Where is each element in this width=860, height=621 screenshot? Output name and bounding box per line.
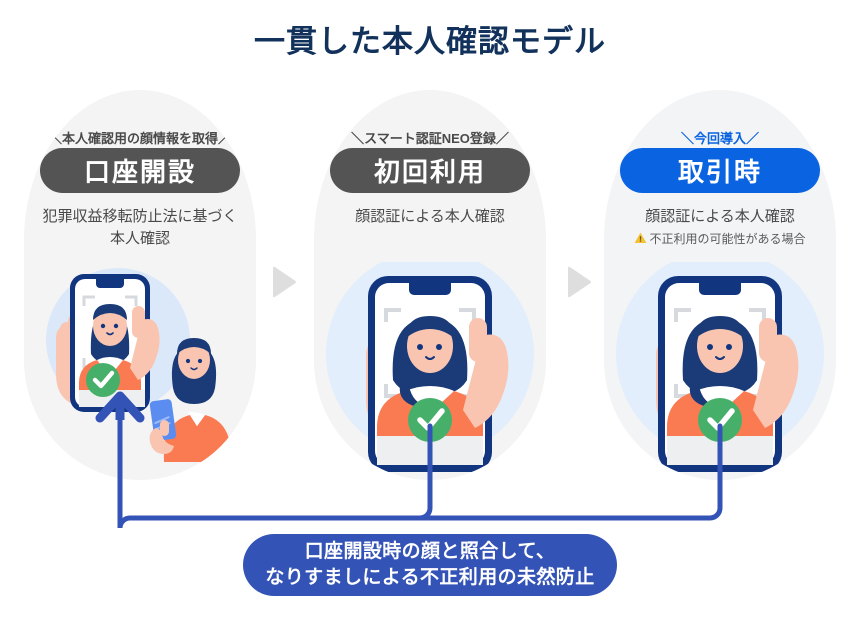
step-pill-label: 取引時 — [620, 148, 820, 193]
steps-container: ＼本人確認用の顔情報を取得／ 口座開設 犯罪収益移転防止法に基づく 本人確認 — [0, 90, 860, 482]
step-card-account-opening: ＼本人確認用の顔情報を取得／ 口座開設 犯罪収益移転防止法に基づく 本人確認 — [24, 90, 256, 480]
step-caption: ＼スマート認証NEO登録／ — [314, 128, 546, 147]
play-triangle-icon — [565, 266, 593, 298]
step-description-line-1: 顔認証による本人確認 — [318, 206, 542, 228]
check-circle-icon — [408, 398, 452, 442]
warning-triangle-icon — [634, 232, 647, 247]
summary-banner-line-1: 口座開設時の顔と照合して、 — [265, 539, 594, 565]
step-description: 顔認証による本人確認 — [318, 206, 542, 228]
step-note-text: 不正利用の可能性がある場合 — [649, 232, 805, 246]
play-triangle-icon — [270, 266, 298, 298]
separator-2 — [565, 266, 593, 298]
illustration-transaction — [604, 262, 836, 480]
page-title: 一貫した本人確認モデル — [0, 16, 860, 61]
step-caption: ＼本人確認用の顔情報を取得／ — [24, 128, 256, 147]
step-description-line-1: 犯罪収益移転防止法に基づく — [28, 206, 252, 228]
step-description: 顔認証による本人確認 — [608, 206, 832, 228]
check-circle-icon — [86, 363, 120, 397]
summary-banner: 口座開設時の顔と照合して、 なりすましによる不正利用の未然防止 — [243, 534, 617, 596]
step-card-first-use: ＼スマート認証NEO登録／ 初回利用 顔認証による本人確認 — [314, 90, 546, 480]
separator-1 — [270, 266, 298, 298]
diagram-canvas: 一貫した本人確認モデル ＼本人確認用の顔情報を取得／ 口座開設 犯罪収益移転防止… — [0, 0, 860, 621]
step-pill-label: 初回利用 — [330, 148, 530, 193]
step-description-line-2: 本人確認 — [28, 228, 252, 250]
step-description: 犯罪収益移転防止法に基づく 本人確認 — [28, 206, 252, 250]
summary-banner-line-2: なりすましによる不正利用の未然防止 — [265, 565, 594, 591]
step-description-line-1: 顔認証による本人確認 — [608, 206, 832, 228]
step-card-transaction: ＼今回導入／ 取引時 顔認証による本人確認 不正利用の可能性がある場合 — [604, 90, 836, 480]
illustration-first-use — [314, 262, 546, 480]
step-note: 不正利用の可能性がある場合 — [608, 230, 832, 247]
check-circle-icon — [698, 398, 742, 442]
step-pill-label: 口座開設 — [40, 148, 240, 193]
step-caption: ＼今回導入／ — [604, 128, 836, 147]
illustration-account-opening — [24, 262, 256, 480]
